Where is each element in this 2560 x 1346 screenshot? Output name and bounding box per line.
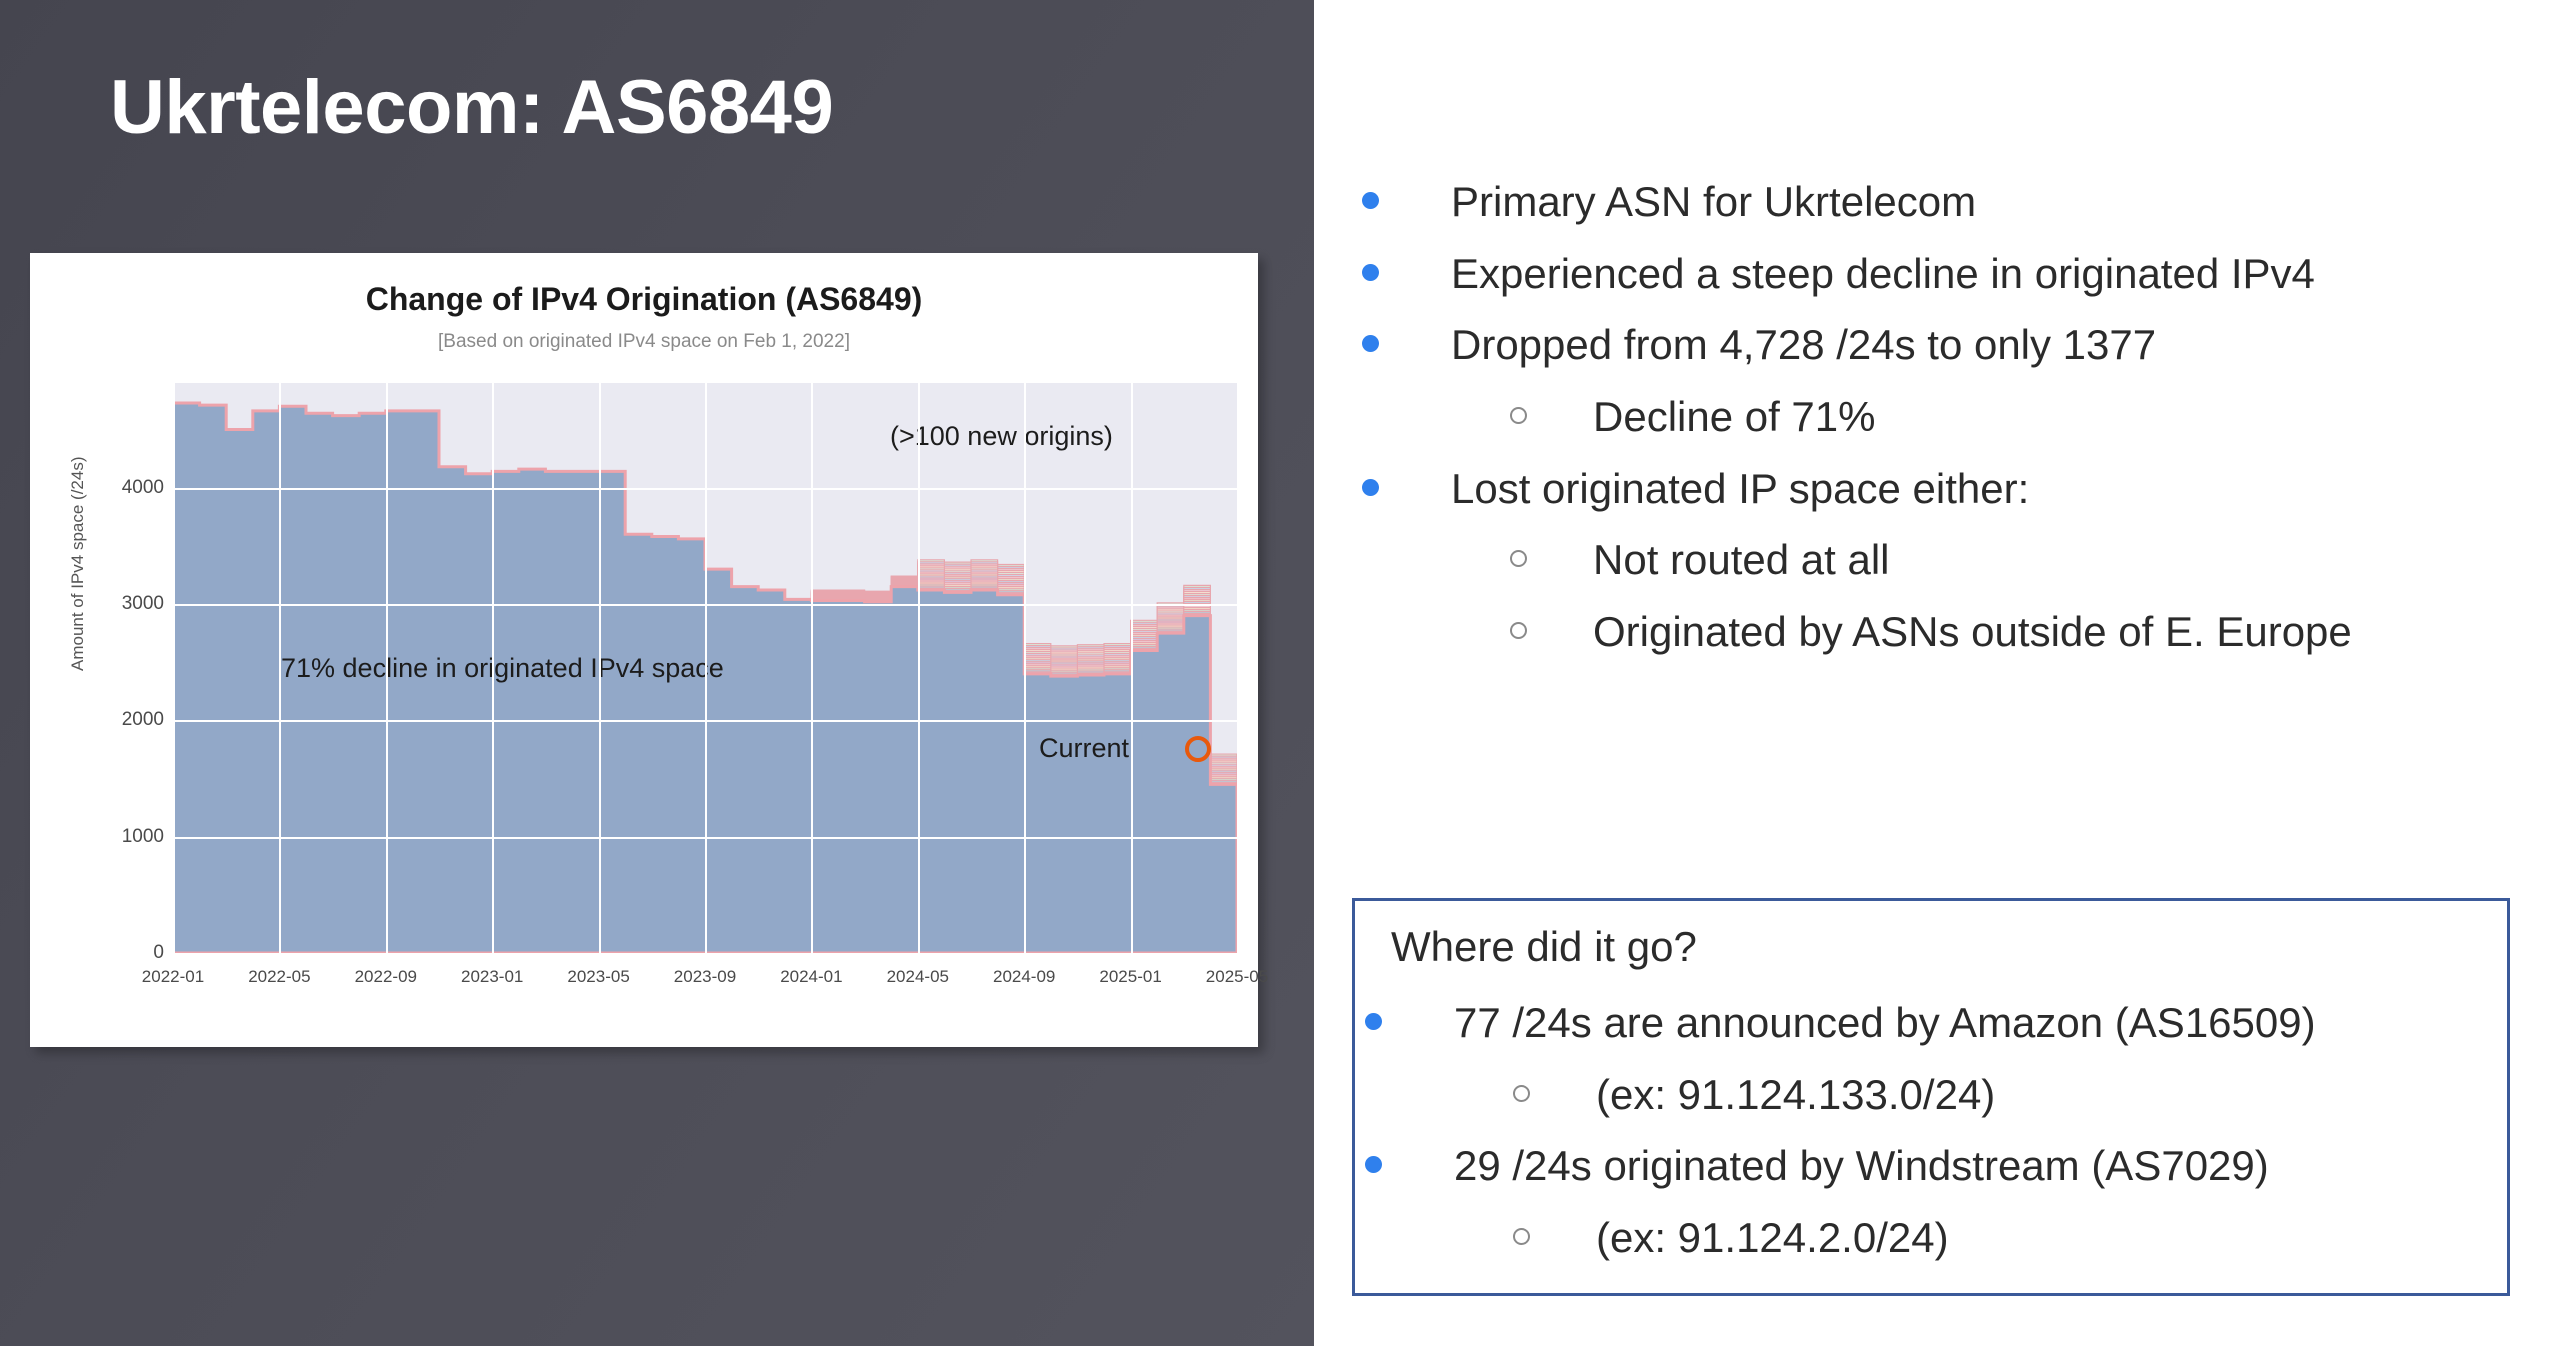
bullet-text: (ex: 91.124.2.0/24) bbox=[1596, 1208, 1949, 1268]
bullet-dot-icon bbox=[1362, 192, 1379, 209]
bullet-text: Decline of 71% bbox=[1593, 387, 1876, 447]
bullet-circle-icon bbox=[1513, 1228, 1530, 1245]
bullet-circle-icon bbox=[1510, 550, 1527, 567]
bullet-text: Primary ASN for Ukrtelecom bbox=[1451, 172, 1976, 232]
bullet-circle-icon bbox=[1510, 407, 1527, 424]
x-tick-label: 2022-05 bbox=[248, 967, 310, 987]
where-box-title: Where did it go? bbox=[1391, 923, 1697, 971]
plot-area: (>100 new origins) 71% decline in origin… bbox=[173, 383, 1237, 953]
gridline-vertical bbox=[279, 383, 281, 953]
bullet-text: Experienced a steep decline in originate… bbox=[1451, 244, 2315, 304]
bullet-circle-icon bbox=[1513, 1085, 1530, 1102]
bullet-dot-icon bbox=[1365, 1013, 1382, 1030]
x-tick-labels: 2022-012022-052022-092023-012023-052023-… bbox=[30, 967, 1258, 1007]
bullet-text: (ex: 91.124.133.0/24) bbox=[1596, 1065, 1995, 1125]
y-tick-label: 3000 bbox=[98, 593, 164, 615]
x-tick-label: 2024-01 bbox=[780, 967, 842, 987]
x-tick-label: 2023-09 bbox=[674, 967, 736, 987]
bullet-text: 77 /24s are announced by Amazon (AS16509… bbox=[1454, 993, 2316, 1053]
left-panel: Ukrtelecom: AS6849 Change of IPv4 Origin… bbox=[0, 0, 1314, 1346]
y-tick-label: 1000 bbox=[98, 826, 164, 848]
y-tick-label: 0 bbox=[98, 942, 164, 964]
gridline-vertical bbox=[1024, 383, 1026, 953]
bullet-item: Decline of 71% bbox=[1362, 387, 2512, 447]
annotation-decline: 71% decline in originated IPv4 space bbox=[281, 653, 724, 684]
x-tick-label: 2023-05 bbox=[567, 967, 629, 987]
bullet-dot-icon bbox=[1362, 479, 1379, 496]
gridline-vertical bbox=[599, 383, 601, 953]
bullet-item: Experienced a steep decline in originate… bbox=[1362, 244, 2512, 304]
bullet-item: (ex: 91.124.2.0/24) bbox=[1365, 1208, 2505, 1268]
bullet-item: 77 /24s are announced by Amazon (AS16509… bbox=[1365, 993, 2505, 1053]
bullet-list: Primary ASN for UkrtelecomExperienced a … bbox=[1362, 172, 2512, 673]
gridline-vertical bbox=[811, 383, 813, 953]
y-tick-labels: 01000200030004000 bbox=[92, 353, 164, 1013]
gridline-vertical bbox=[386, 383, 388, 953]
current-point-marker bbox=[1185, 736, 1211, 762]
bullet-text: 29 /24s originated by Windstream (AS7029… bbox=[1454, 1136, 2269, 1196]
bullet-item: Dropped from 4,728 /24s to only 1377 bbox=[1362, 315, 2512, 375]
gridline-vertical bbox=[173, 383, 175, 953]
bullet-text: Dropped from 4,728 /24s to only 1377 bbox=[1451, 315, 2156, 375]
bullet-item: Not routed at all bbox=[1362, 530, 2512, 590]
bullet-text: Lost originated IP space either: bbox=[1451, 459, 2029, 519]
slide: Ukrtelecom: AS6849 Change of IPv4 Origin… bbox=[0, 0, 2560, 1346]
bullet-circle-icon bbox=[1510, 622, 1527, 639]
annotation-new-origins: (>100 new origins) bbox=[890, 421, 1113, 452]
x-tick-label: 2024-09 bbox=[993, 967, 1055, 987]
chart-title: Change of IPv4 Origination (AS6849) bbox=[30, 281, 1258, 318]
where-box-list: 77 /24s are announced by Amazon (AS16509… bbox=[1365, 993, 2505, 1280]
y-tick-label: 4000 bbox=[98, 477, 164, 499]
where-did-it-go-box: Where did it go? 77 /24s are announced b… bbox=[1352, 898, 2510, 1296]
x-tick-label: 2025-05 bbox=[1206, 967, 1268, 987]
gridline-vertical bbox=[1131, 383, 1133, 953]
bullet-dot-icon bbox=[1365, 1156, 1382, 1173]
y-tick-label: 2000 bbox=[98, 709, 164, 731]
bullet-item: (ex: 91.124.133.0/24) bbox=[1365, 1065, 2505, 1125]
gridline-vertical bbox=[705, 383, 707, 953]
gridline-vertical bbox=[918, 383, 920, 953]
plot-wrapper: Amount of IPv4 space (/24s) 010002000300… bbox=[30, 353, 1258, 1013]
annotation-current: Current bbox=[1039, 733, 1129, 764]
y-axis-label: Amount of IPv4 space (/24s) bbox=[68, 457, 88, 672]
x-tick-label: 2025-01 bbox=[1099, 967, 1161, 987]
x-tick-label: 2023-01 bbox=[461, 967, 523, 987]
bullet-dot-icon bbox=[1362, 335, 1379, 352]
bullet-text: Originated by ASNs outside of E. Europe bbox=[1593, 602, 2352, 662]
page-title: Ukrtelecom: AS6849 bbox=[110, 68, 1210, 148]
bullet-dot-icon bbox=[1362, 264, 1379, 281]
x-tick-label: 2022-01 bbox=[142, 967, 204, 987]
chart-card: Change of IPv4 Origination (AS6849) [Bas… bbox=[30, 253, 1258, 1047]
bullet-text: Not routed at all bbox=[1593, 530, 1890, 590]
bullet-item: Originated by ASNs outside of E. Europe bbox=[1362, 602, 2512, 662]
bullet-item: Primary ASN for Ukrtelecom bbox=[1362, 172, 2512, 232]
right-panel: Primary ASN for UkrtelecomExperienced a … bbox=[1314, 0, 2560, 1346]
bullet-item: 29 /24s originated by Windstream (AS7029… bbox=[1365, 1136, 2505, 1196]
x-tick-label: 2022-09 bbox=[355, 967, 417, 987]
bullet-item: Lost originated IP space either: bbox=[1362, 459, 2512, 519]
chart-subtitle: [Based on originated IPv4 space on Feb 1… bbox=[30, 331, 1258, 353]
x-tick-label: 2024-05 bbox=[887, 967, 949, 987]
gridline-vertical bbox=[492, 383, 494, 953]
